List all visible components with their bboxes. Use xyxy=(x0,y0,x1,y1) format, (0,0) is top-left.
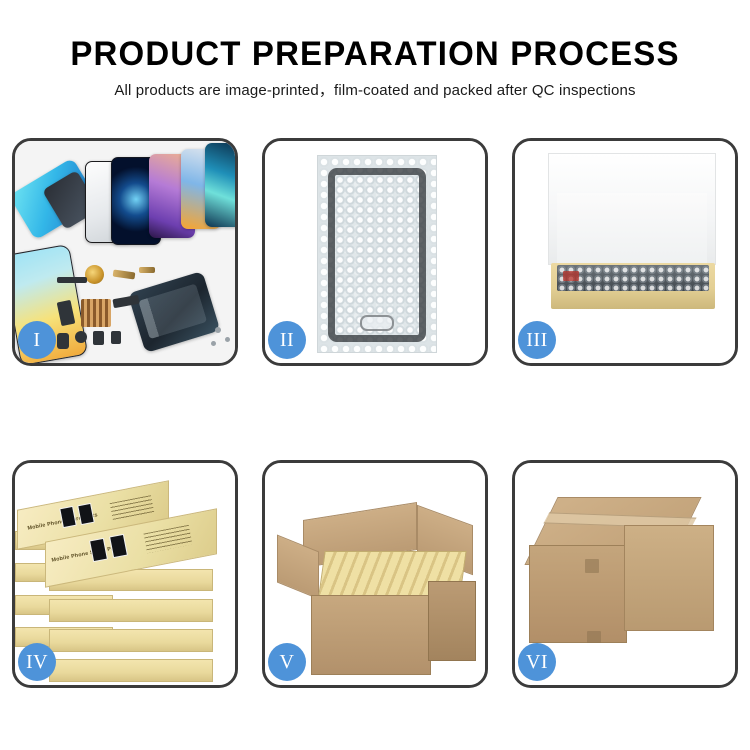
step-panel-5: V xyxy=(262,460,488,688)
page-subtitle: All products are image-printed，film-coat… xyxy=(0,81,750,101)
step-panel-6: VI xyxy=(512,460,738,688)
phone-back-housing xyxy=(128,271,221,353)
stacked-box xyxy=(49,629,213,652)
screw-part-1 xyxy=(215,327,221,333)
flex-cable-part-3 xyxy=(139,267,155,273)
white-foam-insert xyxy=(557,193,707,271)
carton-notch-top xyxy=(585,559,599,573)
sim-tray-part xyxy=(111,331,121,344)
screw-part-3 xyxy=(211,341,216,346)
step-badge-4: IV xyxy=(18,643,56,681)
boxed-wrapped-screen xyxy=(557,265,709,291)
header: PRODUCT PREPARATION PROCESS All products… xyxy=(0,34,750,101)
carton-side-face xyxy=(428,581,476,661)
step-badge-3: III xyxy=(518,321,556,359)
camera-module-part xyxy=(93,331,104,345)
teal-wave-phone xyxy=(205,143,235,227)
button-part xyxy=(75,331,87,343)
step-badge-1: I xyxy=(18,321,56,359)
screw-part-2 xyxy=(225,337,230,342)
carton-right-face xyxy=(624,525,714,631)
speaker-coil-part xyxy=(85,265,104,284)
stacked-box xyxy=(49,659,213,682)
step-panel-3: III xyxy=(512,138,738,366)
step-badge-2: II xyxy=(268,321,306,359)
wrapped-phone-screen xyxy=(328,168,426,342)
page-title: PRODUCT PREPARATION PROCESS xyxy=(11,34,739,74)
step-badge-5: V xyxy=(268,643,306,681)
small-part-a xyxy=(57,333,69,349)
carton-notch-bottom xyxy=(587,631,601,643)
flex-cable-part-1 xyxy=(57,277,87,283)
step-badge-6: VI xyxy=(518,643,556,681)
home-button-cutout xyxy=(360,315,394,331)
bubble-wrap-sheet xyxy=(317,155,437,353)
step-panel-1: I xyxy=(12,138,238,366)
step-panel-2: II xyxy=(262,138,488,366)
carton-front-face xyxy=(311,595,431,675)
connector-grid-part xyxy=(81,299,111,327)
product-preparation-infographic: PRODUCT PREPARATION PROCESS All products… xyxy=(0,0,750,750)
flex-cable-part-2 xyxy=(113,270,136,280)
process-steps-grid: I II III xyxy=(12,138,738,688)
step-panel-4: Mobile Phone Spare Parts Mobile Phone Sp… xyxy=(12,460,238,688)
carton-front-face xyxy=(529,545,627,643)
stacked-box xyxy=(49,599,213,622)
